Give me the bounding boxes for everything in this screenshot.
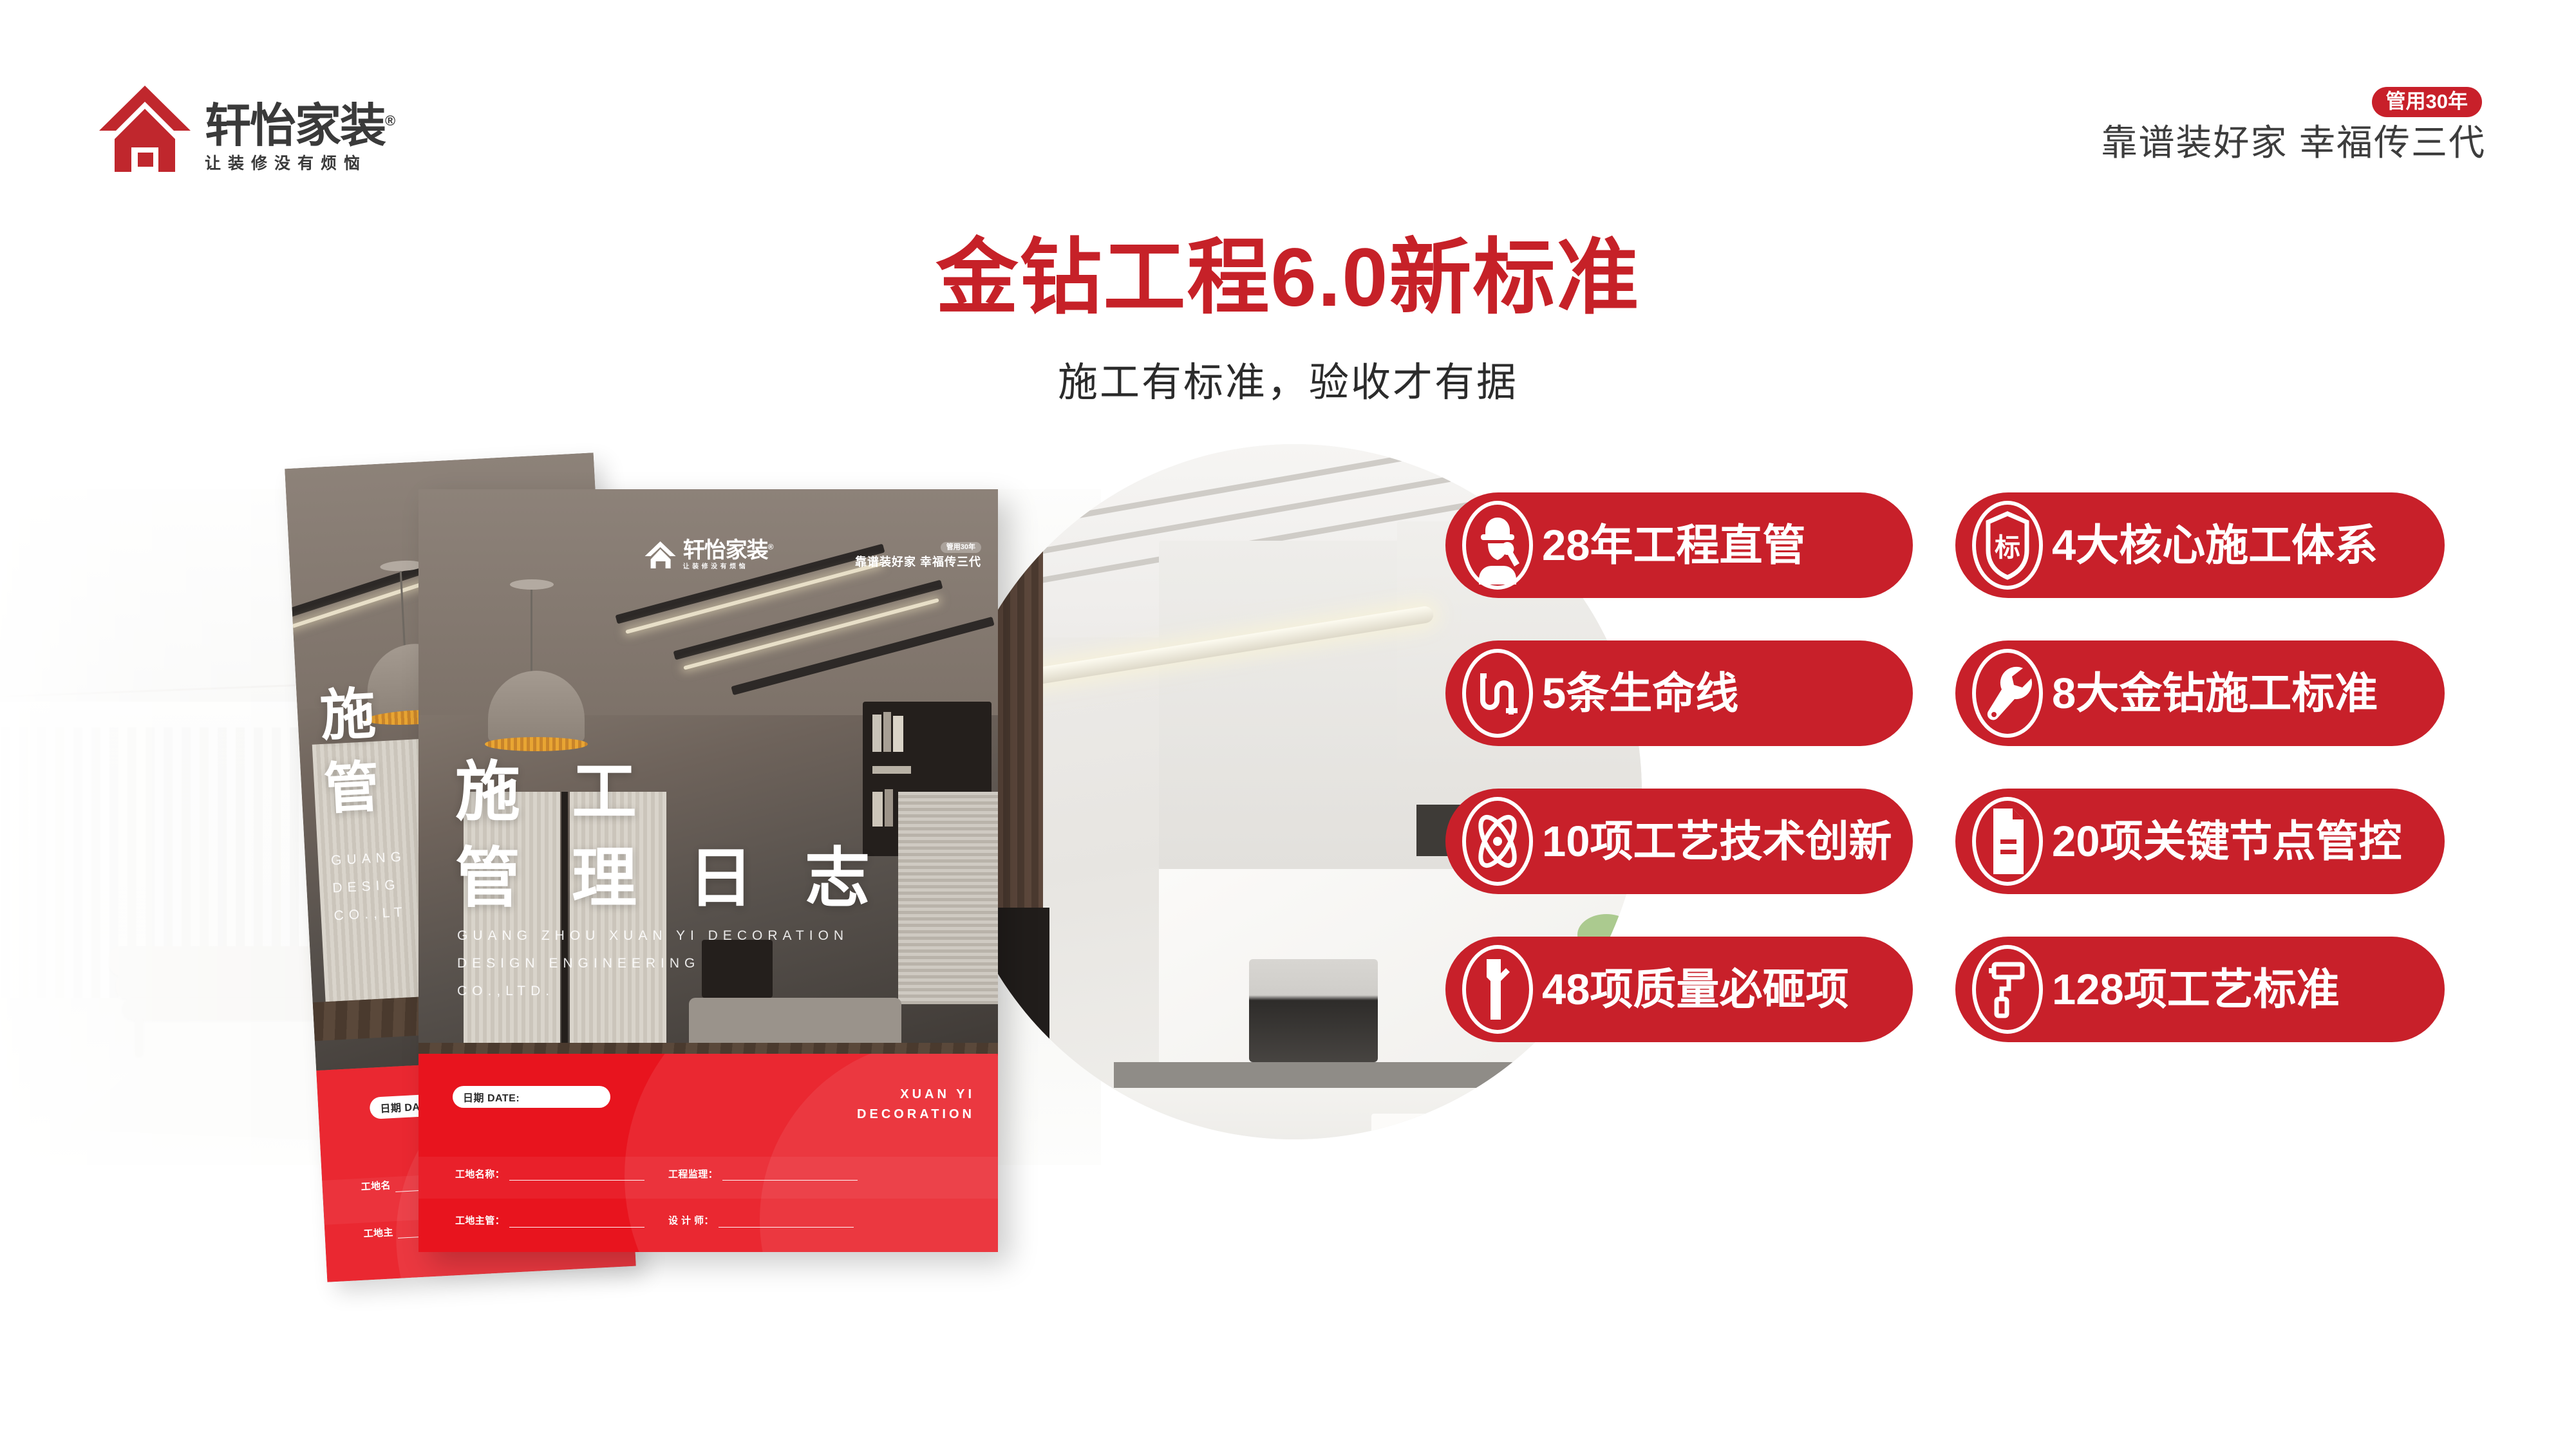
field-label-site-manager: 工地主管： [455, 1215, 505, 1228]
feature-label-2: 5条生命线 [1542, 672, 1738, 715]
field-label-site-name: 工地名称： [455, 1168, 505, 1181]
booklet-logo-name: 轩怡家装 [683, 538, 768, 563]
document-icon [1964, 793, 2051, 890]
feature-row-1: 28年工程直管 标 4大核心施工体系 [1445, 492, 2508, 598]
booklet-back-en-1: DESIG [332, 870, 408, 902]
feature-label-5: 20项关键节点管控 [2052, 820, 2402, 863]
feature-label-6: 48项质量必砸项 [1542, 968, 1849, 1011]
booklet-back-en-2: CO.,LT [334, 898, 410, 930]
logo-name: 轩怡家装® [205, 103, 394, 149]
field-input-site-manager[interactable] [509, 1217, 644, 1228]
booklet-back-en-0: GUANG [330, 843, 407, 874]
field-supervisor[interactable]: 工程监理： [668, 1168, 858, 1181]
field-input-site-name[interactable] [509, 1170, 644, 1181]
booklet-brand-mark: XUAN YI DECORATION [857, 1085, 975, 1125]
feature-pill-48-quality[interactable]: 48项质量必砸项 [1445, 937, 1913, 1042]
booklet-logo-reg: ® [768, 543, 773, 552]
house-logo-icon [97, 80, 193, 177]
feature-pill-28-years[interactable]: 28年工程直管 [1445, 492, 1913, 598]
field-label-designer: 设 计 师： [668, 1215, 714, 1228]
field-input-supervisor[interactable] [722, 1170, 858, 1181]
booklet-tagline: 靠谱装好家 幸福传三代 [855, 556, 981, 568]
date-field[interactable]: 日期 DATE: [453, 1086, 610, 1108]
logo-slogan: 让装修没有烦恼 [205, 156, 394, 172]
feature-label-1: 4大核心施工体系 [2052, 524, 2378, 567]
shield-icon-text: 标 [1995, 534, 2020, 562]
booklet-en-2: CO.,LTD. [457, 977, 849, 1005]
field-designer[interactable]: 设 计 师： [668, 1215, 854, 1228]
booklet-back-title-line1: 施 [318, 677, 390, 754]
feature-pill-128-craft[interactable]: 128项工艺标准 [1955, 937, 2445, 1042]
brand-line2: DECORATION [857, 1105, 975, 1125]
header-right-block: 管用30年 靠谱装好家 幸福传三代 [2101, 87, 2486, 161]
booklet-cover-title: 施 工 管 理 日 志 [455, 749, 887, 922]
paint-roller-icon [1964, 941, 2051, 1038]
lifeline-pulse-icon [1454, 645, 1541, 742]
booklet-en-0: GUANG ZHOU XUAN YI DECORATION [457, 922, 849, 949]
atom-icon [1454, 793, 1541, 890]
house-logo-icon-small [644, 540, 677, 570]
feature-row-3: 10项工艺技术创新 20项关键节点管控 [1445, 789, 2508, 894]
booklet-en-1: DESIGN ENGINEERING [457, 949, 849, 977]
booklet-cover-logo: 轩怡家装® 让装修没有烦恼 [644, 539, 773, 570]
field-site-manager[interactable]: 工地主管： [455, 1215, 644, 1228]
brand-line1: XUAN YI [857, 1085, 975, 1105]
page-title: 金钻工程6.0新标准 [0, 230, 2576, 325]
booklet-guarantee-badge: 管用30年 [941, 542, 981, 553]
booklet-back-field-1: 工地主 [363, 1226, 393, 1240]
booklet-title-line1: 施 工 [455, 749, 887, 836]
booklet-cover-english: GUANG ZHOU XUAN YI DECORATION DESIGN ENG… [457, 922, 849, 1005]
worker-helmet-icon [1454, 497, 1541, 594]
feature-label-3: 8大金钻施工标准 [2052, 672, 2378, 715]
booklet-title-line2: 管 理 日 志 [455, 836, 887, 922]
feature-pill-8-standards[interactable]: 8大金钻施工标准 [1955, 640, 2445, 746]
booklet-front-footer: 日期 DATE: XUAN YI DECORATION 工地名称： 工程监理： [418, 1054, 998, 1252]
feature-row-4: 48项质量必砸项 128项工艺标准 [1445, 937, 2508, 1042]
logo-name-text: 轩怡家装 [205, 100, 385, 152]
feature-pill-10-innovations[interactable]: 10项工艺技术创新 [1445, 789, 1913, 894]
hammer-icon [1454, 941, 1541, 1038]
brand-logo[interactable]: 轩怡家装® 让装修没有烦恼 [97, 80, 394, 177]
booklet-front-cover: 轩怡家装® 让装修没有烦恼 管用30年 靠谱装好家 幸福传三代 施 工 管 理 … [418, 489, 998, 1252]
wrench-icon [1964, 645, 2051, 742]
feature-label-7: 128项工艺标准 [2052, 968, 2340, 1011]
feature-label-4: 10项工艺技术创新 [1542, 820, 1892, 863]
booklet-cover-topright: 管用30年 靠谱装好家 幸福传三代 [855, 541, 981, 568]
registered-mark: ® [385, 113, 394, 129]
feature-pill-5-lifelines[interactable]: 5条生命线 [1445, 640, 1913, 746]
guarantee-badge: 管用30年 [2372, 87, 2482, 117]
page-subtitle: 施工有标准，验收才有据 [0, 359, 2576, 407]
field-input-designer[interactable] [719, 1217, 854, 1228]
header-slogan: 靠谱装好家 幸福传三代 [2101, 125, 2486, 161]
field-label-supervisor: 工程监理： [668, 1168, 718, 1181]
booklet-back-title-line2: 管 [322, 750, 394, 827]
date-label: 日期 DATE: [463, 1089, 520, 1105]
feature-pill-grid: 28年工程直管 标 4大核心施工体系 5 [1445, 492, 2508, 1085]
page-header: 轩怡家装® 让装修没有烦恼 管用30年 靠谱装好家 幸福传三代 [0, 0, 2576, 193]
booklet-back-field-0: 工地名 [361, 1179, 391, 1193]
shield-standard-icon: 标 [1964, 497, 2051, 594]
feature-pill-20-nodes[interactable]: 20项关键节点管控 [1955, 789, 2445, 894]
feature-label-0: 28年工程直管 [1542, 524, 1806, 567]
booklet-form-fields: 工地名称： 工程监理： 工地主管： 设 计 师： [455, 1168, 867, 1252]
feature-row-2: 5条生命线 8大金钻施工标准 [1445, 640, 2508, 746]
field-site-name[interactable]: 工地名称： [455, 1168, 644, 1181]
booklet-logo-sub: 让装修没有烦恼 [683, 564, 773, 570]
feature-pill-4-systems[interactable]: 标 4大核心施工体系 [1955, 492, 2445, 598]
